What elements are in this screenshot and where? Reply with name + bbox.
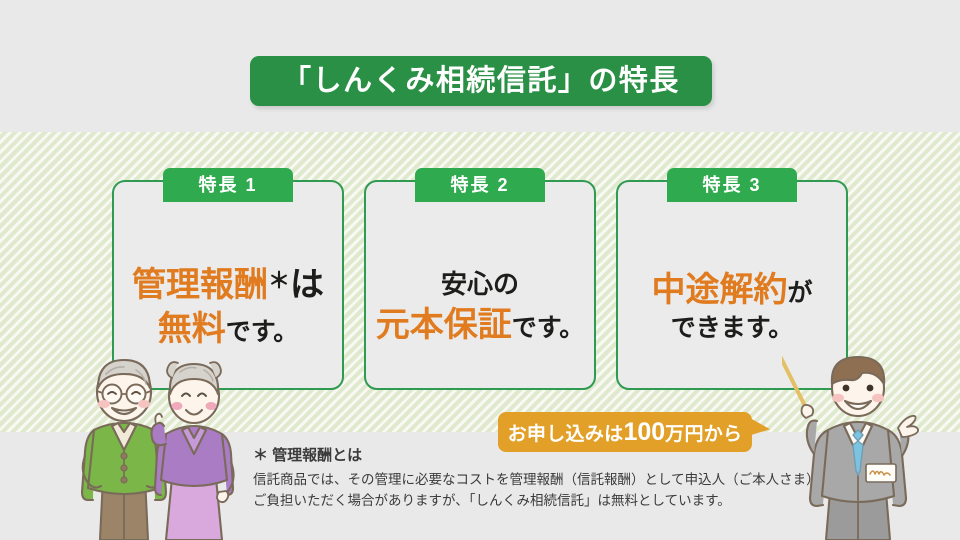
feature-card-2-body: 安心の 元本保証です。 xyxy=(366,234,594,380)
footnote-line-1: 信託商品では、その管理に必要なコストを管理報酬（信託報酬）として申込人（ご本人さ… xyxy=(253,470,773,491)
minimum-amount-suffix: 万円から xyxy=(665,424,742,445)
feature-card-3-line-1: 中途解約が xyxy=(651,270,812,310)
feature-card-3-line-2: できます。 xyxy=(671,314,794,344)
footnote-line-2: ご負担いただく場合がありますが、「しんくみ相続信託」は無料としています。 xyxy=(253,491,773,512)
minimum-amount-value: 100 xyxy=(623,418,665,446)
feature-card-3-badge-label: 特長 3 xyxy=(702,176,761,194)
feature-card-3-keyword: 中途解約 xyxy=(651,271,787,309)
feature-card-1-line-2: 無料です。 xyxy=(158,309,299,349)
slide-root: 「しんくみ相続信託」の特長 特長 1 管理報酬＊は 無料です。 特長 2 安心の… xyxy=(0,0,960,540)
elderly-couple-illustration xyxy=(44,352,254,540)
footnote-heading: ＊ 管理報酬とは xyxy=(253,446,773,466)
page-title: 「しんくみ相続信託」の特長 xyxy=(282,67,680,96)
footnote-block: ＊ 管理報酬とは 信託商品では、その管理に必要なコストを管理報酬（信託報酬）とし… xyxy=(253,446,773,512)
bank-staff-illustration xyxy=(782,352,960,540)
feature-card-1-particle: は xyxy=(290,266,324,304)
feature-card-1-keyword: 管理報酬 xyxy=(132,266,268,304)
feature-card-3-particle: が xyxy=(787,279,812,307)
feature-card-2-line-2: 元本保証です。 xyxy=(376,305,585,345)
feature-card-1-line-1: 管理報酬＊は xyxy=(132,265,324,305)
feature-card-2: 特長 2 安心の 元本保証です。 xyxy=(364,180,596,390)
feature-card-1-suffix: です。 xyxy=(226,318,299,346)
feature-card-2-line-1: 安心の xyxy=(441,269,519,300)
page-title-bar: 「しんくみ相続信託」の特長 xyxy=(250,56,712,106)
feature-card-2-keyword: 元本保証 xyxy=(376,306,512,344)
minimum-amount-prefix: お申し込みは xyxy=(508,424,624,445)
feature-card-1-badge: 特長 1 xyxy=(163,168,293,202)
feature-card-3-badge: 特長 3 xyxy=(667,168,797,202)
feature-card-2-badge: 特長 2 xyxy=(415,168,545,202)
footnote-asterisk-marker: ＊ xyxy=(268,268,290,293)
minimum-amount-text: お申し込みは100万円から xyxy=(508,420,743,445)
feature-card-2-suffix: です。 xyxy=(512,314,585,342)
feature-card-1-badge-label: 特長 1 xyxy=(198,176,257,194)
feature-card-2-badge-label: 特長 2 xyxy=(450,176,509,194)
feature-card-1-keyword-2: 無料 xyxy=(158,310,226,348)
